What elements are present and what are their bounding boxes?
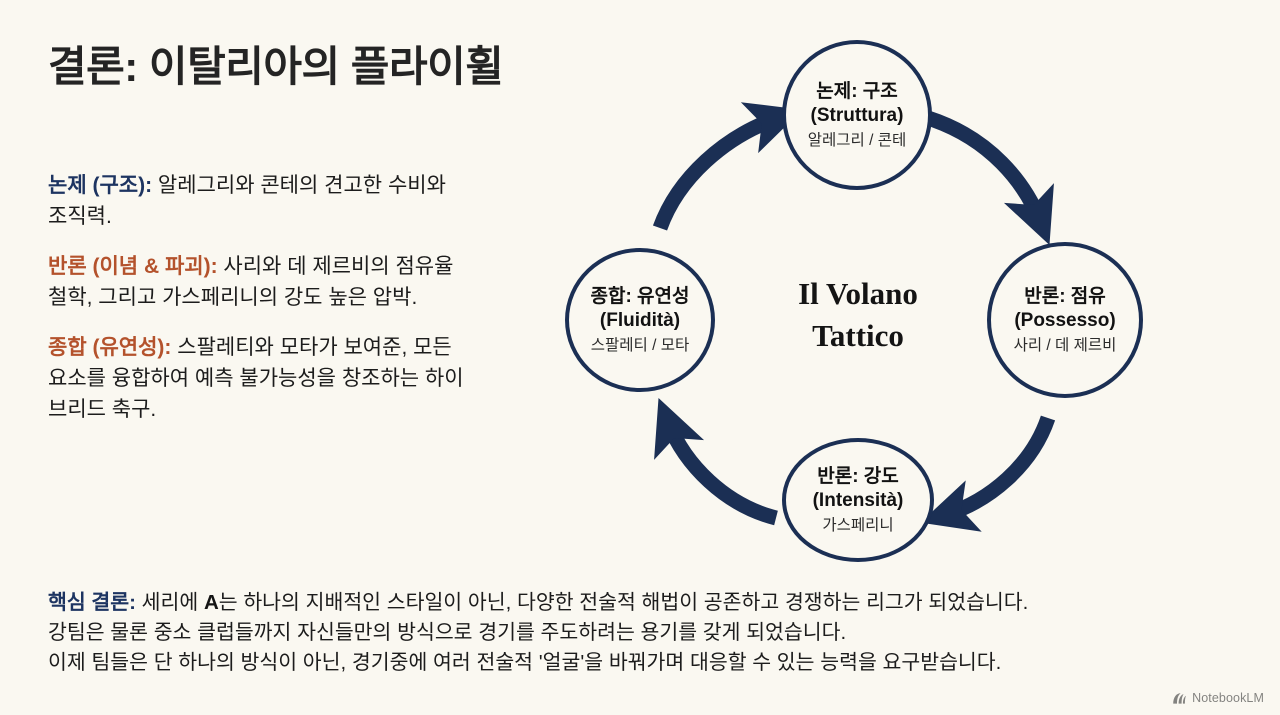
diagram-node-possesso[interactable]: 반론: 점유 (Possesso) 사리 / 데 제르비 <box>987 242 1143 398</box>
arrow-fluidita-to-struttura <box>660 118 778 228</box>
arrow-intensita-to-fluidita <box>668 422 776 518</box>
conclusion-line-3: 이제 팀들은 단 하나의 방식이 아닌, 경기중에 여러 전술적 '얼굴'을 바… <box>48 648 1238 678</box>
node-title-line-1: 반론: 점유 <box>1024 285 1106 309</box>
conclusion-label: 핵심 결론: <box>48 591 136 614</box>
conclusion-line-1-part-1: 세리에 <box>136 591 204 614</box>
notebooklm-logo-icon <box>1172 692 1187 705</box>
node-title-line-2: (Possesso) <box>1014 309 1115 333</box>
node-subtitle: 알레그리 / 콘테 <box>808 131 906 151</box>
point-label-synthesis: 종합 (유연성): <box>48 336 171 359</box>
notebooklm-watermark: NotebookLM <box>1172 691 1264 705</box>
conclusion-line-1: 핵심 결론: 세리에 A는 하나의 지배적인 스타일이 아닌, 다양한 전술적 … <box>48 588 1238 618</box>
arrow-possesso-to-intensita <box>945 418 1048 515</box>
center-label-line-2: Tattico <box>738 315 978 357</box>
list-item: 반론 (이념 & 파괴): 사리와 데 제르비의 점유율 철학, 그리고 가스페… <box>48 251 468 313</box>
slide-canvas: 결론: 이탈리아의 플라이휠 논제 (구조): 알레그리와 콘테의 견고한 수비… <box>0 0 1280 715</box>
diagram-center-label: Il Volano Tattico <box>738 273 978 357</box>
conclusion-line-1-part-2: 는 하나의 지배적인 스타일이 아닌, 다양한 전술적 해법이 공존하고 경쟁하… <box>219 591 1029 614</box>
node-subtitle: 스팔레티 / 모타 <box>591 336 689 356</box>
conclusion-line-2: 강팀은 물론 중소 클럽들까지 자신들만의 방식으로 경기를 주도하려는 용기를… <box>48 618 1238 648</box>
point-label-thesis: 논제 (구조): <box>48 174 152 197</box>
point-label-antithesis: 반론 (이념 & 파괴): <box>48 255 218 278</box>
node-title-line-1: 종합: 유연성 <box>590 285 689 309</box>
node-title-line-1: 반론: 강도 <box>817 465 899 489</box>
diagram-node-fluidita[interactable]: 종합: 유연성 (Fluidità) 스팔레티 / 모타 <box>565 248 715 392</box>
diagram-node-intensita[interactable]: 반론: 강도 (Intensità) 가스페리니 <box>782 438 934 562</box>
conclusion-serie-a-bold: A <box>204 591 219 614</box>
node-title-line-2: (Struttura) <box>811 104 904 128</box>
watermark-label: NotebookLM <box>1192 691 1264 705</box>
node-subtitle: 사리 / 데 제르비 <box>1014 336 1117 356</box>
arrow-struttura-to-possesso <box>928 118 1040 221</box>
list-item: 종합 (유연성): 스팔레티와 모타가 보여준, 모든 요소를 융합하여 예측 … <box>48 332 468 425</box>
node-title-line-2: (Intensità) <box>813 489 904 513</box>
left-points-list: 논제 (구조): 알레그리와 콘테의 견고한 수비와 조직력. 반론 (이념 &… <box>48 170 468 425</box>
diagram-node-struttura[interactable]: 논제: 구조 (Struttura) 알레그리 / 콘테 <box>782 40 932 190</box>
node-title-line-1: 논제: 구조 <box>816 80 898 104</box>
node-subtitle: 가스페리니 <box>822 516 893 536</box>
node-title-line-2: (Fluidità) <box>600 309 680 333</box>
center-label-line-1: Il Volano <box>738 273 978 315</box>
page-title: 결론: 이탈리아의 플라이휠 <box>48 33 503 94</box>
list-item: 논제 (구조): 알레그리와 콘테의 견고한 수비와 조직력. <box>48 170 468 232</box>
flywheel-diagram: Il Volano Tattico 논제: 구조 (Struttura) 알레그… <box>520 18 1220 563</box>
conclusion-block: 핵심 결론: 세리에 A는 하나의 지배적인 스타일이 아닌, 다양한 전술적 … <box>48 588 1238 678</box>
